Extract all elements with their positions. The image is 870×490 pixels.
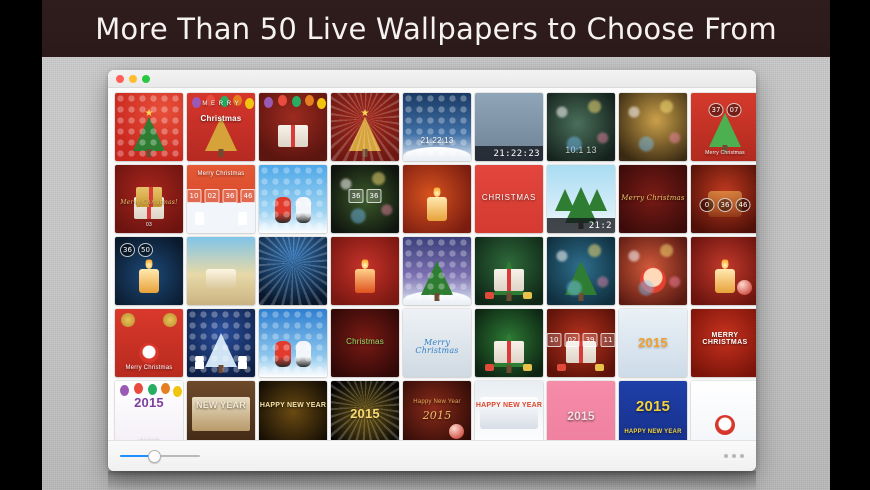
tile-title: CHRISTMAS <box>475 194 543 202</box>
dot-icon <box>740 454 744 458</box>
snowman-icon <box>296 341 311 367</box>
zoom-icon[interactable] <box>142 75 150 83</box>
balloon-icon <box>317 98 326 109</box>
snow-ground <box>403 147 471 161</box>
countdown-badges: 3650 <box>120 243 153 257</box>
gift-box-icon <box>523 364 532 371</box>
countdown-digit: 36 <box>349 189 364 203</box>
gift-box-icon <box>485 292 494 299</box>
wallpaper-tile-silver-tree-snowman[interactable] <box>187 309 255 377</box>
wallpaper-tile-new-year-woodblock[interactable]: NEW YEAR <box>187 381 255 440</box>
page-title: More Than 50 Live Wallpapers to Choose F… <box>95 12 777 46</box>
countdown-badges: 10023911 <box>547 333 615 347</box>
balloon-icon <box>292 96 301 107</box>
tile-title: HAPPY NEW YEAR <box>475 400 543 411</box>
tile-title: MERRY CHRISTMAS <box>691 332 756 347</box>
wallpaper-grid-scroll[interactable]: ★ChristmasM E R R Y★21:22:1321:22:2310:1… <box>108 88 756 440</box>
candle-icon <box>715 269 735 293</box>
flame-icon <box>722 257 729 269</box>
tree-icon <box>349 117 381 151</box>
star-icon: ★ <box>145 109 154 119</box>
minimize-icon[interactable] <box>129 75 137 83</box>
tile-title: 2015 <box>619 336 687 350</box>
dot-icon <box>724 454 728 458</box>
countdown-digit: 50 <box>138 243 153 257</box>
santa-icon <box>715 415 735 435</box>
wallpaper-tile-decorated-tree-lights[interactable]: 10:1 13 <box>547 93 615 161</box>
wallpaper-tile-tree-blue-bokeh[interactable] <box>547 237 615 305</box>
santa-icon <box>640 267 666 293</box>
countdown-digit: 46 <box>736 198 751 212</box>
tree-trunk <box>219 149 224 157</box>
countdown-digit: 11 <box>601 333 616 347</box>
gift-box-icon <box>595 364 604 371</box>
countdown-digit: 02 <box>565 333 580 347</box>
tile-title: Merry Christmas <box>691 151 756 156</box>
balloon-icon <box>161 383 170 394</box>
wallpaper-tile-christmas-colorful-text[interactable]: Christmas <box>331 309 399 377</box>
wallpaper-tile-golden-tree-sparkle[interactable]: ★ <box>331 93 399 161</box>
tree-trunk <box>435 293 440 301</box>
santa-icon <box>139 343 159 363</box>
balloon-icon <box>148 384 157 395</box>
countdown-badges: 10023646 <box>187 189 255 203</box>
wallpaper-tile-2015-balloons-countdown[interactable]: 201512 17 02 <box>115 381 183 440</box>
balloon-icon <box>305 95 314 106</box>
promo-header: More Than 50 Live Wallpapers to Choose F… <box>42 0 830 57</box>
tree-icon <box>587 189 607 211</box>
wallpaper-tile-santa-sleigh-wreath[interactable]: Merry Christmas <box>115 309 183 377</box>
tree-trunk <box>507 293 512 301</box>
wallpaper-tile-christmas-tree-red[interactable]: ★ <box>115 93 183 161</box>
countdown-digit: 02 <box>205 189 220 203</box>
tile-title: HAPPY NEW YEAR <box>259 401 327 412</box>
tree-icon <box>205 333 237 367</box>
tile-subtitle: 03 <box>115 223 183 228</box>
candle-icon <box>139 269 159 293</box>
tile-subtitle: 12 17 02 <box>115 439 183 440</box>
tile-title: Merry Christmas <box>187 171 255 177</box>
wallpaper-tile-happy-new-year-2015-red[interactable]: 2015Happy New Year <box>403 381 471 440</box>
tile-title: Merry Christmas <box>619 195 687 202</box>
wallpaper-tile-green-tree-presents[interactable] <box>475 309 543 377</box>
countdown-digit: 10 <box>547 333 562 347</box>
wallpaper-tile-merry-christmas-blue[interactable]: MERRY CHRISTMAS <box>691 309 756 377</box>
wallpaper-tile-santa-snowman-sign[interactable] <box>259 309 327 377</box>
wallpaper-tile-nativity-scene[interactable] <box>187 237 255 305</box>
wallpaper-tile-gift-boxes-balloons[interactable] <box>259 93 327 161</box>
tile-title: Merry Christmas! <box>115 200 183 206</box>
wallpaper-tile-red-pillar-candle[interactable] <box>331 237 399 305</box>
balloon-icon <box>120 385 129 396</box>
wallpaper-tile-merry-christmas-frost[interactable]: Merry Christmas <box>403 309 471 377</box>
wallpaper-tile-gold-gift-ornament[interactable]: Merry Christmas!03 <box>115 165 183 233</box>
ornament-icon <box>737 280 752 295</box>
snowman-icon <box>238 356 247 369</box>
tile-title: 2015 <box>403 410 471 422</box>
slider-knob[interactable] <box>148 450 161 463</box>
tile-title: 21:22:13 <box>403 137 471 145</box>
wallpaper-tile-christmas-flat-red[interactable]: CHRISTMAS <box>475 165 543 233</box>
tile-title: 2015 <box>619 399 687 415</box>
countdown-digit: 10 <box>187 189 202 203</box>
window-titlebar[interactable] <box>108 70 756 88</box>
tile-title: 10:1 13 <box>547 146 615 155</box>
tree-icon <box>709 113 741 147</box>
snowman-icon <box>195 356 204 369</box>
snowman-icon <box>195 212 204 225</box>
tile-subtitle: M E R R Y <box>187 101 255 107</box>
tile-title: 2015 <box>331 407 399 421</box>
more-options-button[interactable] <box>724 454 744 458</box>
wallpaper-tile-2015-pink[interactable]: 2015 <box>547 381 615 440</box>
tile-subtitle: HAPPY NEW YEAR <box>619 429 687 435</box>
clock-time: 21:2 <box>589 221 612 231</box>
balloon-icon <box>278 95 287 106</box>
ornament-icon <box>449 424 464 439</box>
wallpaper-tile-tree-with-gifts[interactable] <box>475 237 543 305</box>
gift-box-icon <box>523 292 532 299</box>
balloon-icon <box>264 97 273 108</box>
wallpaper-tile-2015-snowflake[interactable]: 2015 <box>619 309 687 377</box>
tile-title: Merry Christmas <box>115 365 183 371</box>
snowman-icon <box>238 212 247 225</box>
tree-trunk <box>579 293 584 301</box>
wallpaper-tile-happy-new-year-paper[interactable]: HAPPY NEW YEAR <box>475 381 543 440</box>
tree-icon <box>421 261 453 295</box>
tree-icon <box>565 261 597 295</box>
wallpaper-tile-merry-christmas-script[interactable]: Merry Christmas <box>619 165 687 233</box>
gift-box-icon <box>494 269 524 291</box>
countdown-digit: 37 <box>709 103 724 117</box>
wallpaper-tile-snow-hill-clock[interactable]: 21:22:13 <box>403 93 471 161</box>
countdown-digit: 36 <box>718 198 733 212</box>
wallpaper-tile-green-tree-countdown[interactable]: Merry Christmas3707 <box>691 93 756 161</box>
wallpaper-tile-candle-snowflake-badge[interactable]: 3650 <box>115 237 183 305</box>
countdown-digit: 36 <box>120 243 135 257</box>
tile-title: 2015 <box>115 396 183 410</box>
flame-icon <box>146 257 153 269</box>
wallpaper-tile-santa-reindeer-cartoon[interactable] <box>259 165 327 233</box>
flame-icon <box>434 185 441 197</box>
star-icon: ★ <box>361 109 370 119</box>
countdown-badges: 3707 <box>709 103 742 117</box>
wallpaper-tile-bokeh-tree-countdown[interactable]: 3636 <box>331 165 399 233</box>
wallpaper-tile-santa-white-branches[interactable] <box>691 381 756 440</box>
window-toolbar <box>108 440 756 471</box>
tile-title: Christmas <box>331 338 399 346</box>
wallpaper-tile-gift-countdown-tiles[interactable]: 10023911 <box>547 309 615 377</box>
tree-icon <box>133 117 165 151</box>
gift-box-icon <box>278 125 308 147</box>
tree-trunk <box>507 365 512 373</box>
balloon-icon <box>134 383 143 394</box>
wallpaper-tile-merry-christmas-balloons[interactable]: ChristmasM E R R Y <box>187 93 255 161</box>
clock-time: 21:22:23 <box>493 149 540 159</box>
countdown-digit: 39 <box>583 333 598 347</box>
wallpaper-tile-candle-baubles-red[interactable] <box>691 237 756 305</box>
candle-icon <box>427 197 447 221</box>
tree-trunk <box>219 365 224 373</box>
zoom-slider[interactable] <box>120 450 200 462</box>
countdown-badges: 3636 <box>349 189 382 203</box>
nativity-icon <box>206 269 236 289</box>
ornament-icon <box>163 313 177 327</box>
wallpaper-tile-happy-new-year-gold[interactable]: HAPPY NEW YEAR <box>259 381 327 440</box>
wallpaper-tile-blue-starburst-night[interactable] <box>259 237 327 305</box>
snow-ground <box>403 291 471 305</box>
santa-icon <box>275 197 291 223</box>
wallpaper-tile-snowy-village-tree[interactable] <box>403 237 471 305</box>
dot-icon <box>732 454 736 458</box>
wallpaper-tile-golden-fireworks-2015[interactable]: 2015 <box>331 381 399 440</box>
wallpaper-tile-three-trees-clock[interactable]: 21:2 <box>547 165 615 233</box>
gift-box-icon <box>557 364 566 371</box>
flame-icon <box>362 257 369 269</box>
wallpaper-tile-santa-rooftop-city[interactable]: 21:22:23 <box>475 93 543 161</box>
tile-title: Christmas <box>187 115 255 123</box>
tree-trunk <box>363 149 368 157</box>
countdown-digit: 36 <box>223 189 238 203</box>
gift-box-icon <box>485 364 494 371</box>
snowman-icon <box>296 197 311 223</box>
countdown-digit: 36 <box>367 189 382 203</box>
tile-title: Merry Christmas <box>403 339 471 356</box>
wallpaper-tile-golden-tree-baubles[interactable] <box>619 93 687 161</box>
ornament-icon <box>121 313 135 327</box>
wallpaper-grid: ★ChristmasM E R R Y★21:22:1321:22:2310:1… <box>115 93 749 440</box>
candle-icon <box>355 269 375 293</box>
app-window: ★ChristmasM E R R Y★21:22:1321:22:2310:1… <box>108 70 756 471</box>
tree-trunk <box>147 149 152 157</box>
wallpaper-tile-snowman-countdown[interactable]: Merry Christmas10023646 <box>187 165 255 233</box>
wallpaper-tile-candles-snowman[interactable] <box>403 165 471 233</box>
clock-overlay: 21:22:23 <box>475 146 543 161</box>
tile-title: 2015 <box>547 410 615 423</box>
wallpaper-tile-2015-blue-colorful[interactable]: 2015HAPPY NEW YEAR <box>619 381 687 440</box>
countdown-badges: 03646 <box>700 198 751 212</box>
clock-overlay: 21:2 <box>547 218 615 233</box>
close-icon[interactable] <box>116 75 124 83</box>
countdown-digit: 46 <box>241 189 256 203</box>
countdown-digit: 07 <box>727 103 742 117</box>
santa-icon <box>275 341 291 367</box>
wallpaper-tile-golden-deer-countdown[interactable]: 03646 <box>691 165 756 233</box>
wallpaper-tile-santa-bokeh-portrait[interactable] <box>619 237 687 305</box>
tile-subtitle: Happy New Year <box>403 399 471 405</box>
screenshot-stage: More Than 50 Live Wallpapers to Choose F… <box>0 0 870 490</box>
countdown-digit: 0 <box>700 198 715 212</box>
gift-box-icon <box>494 341 524 363</box>
window-reflection <box>108 471 756 490</box>
tile-title: NEW YEAR <box>187 399 255 413</box>
